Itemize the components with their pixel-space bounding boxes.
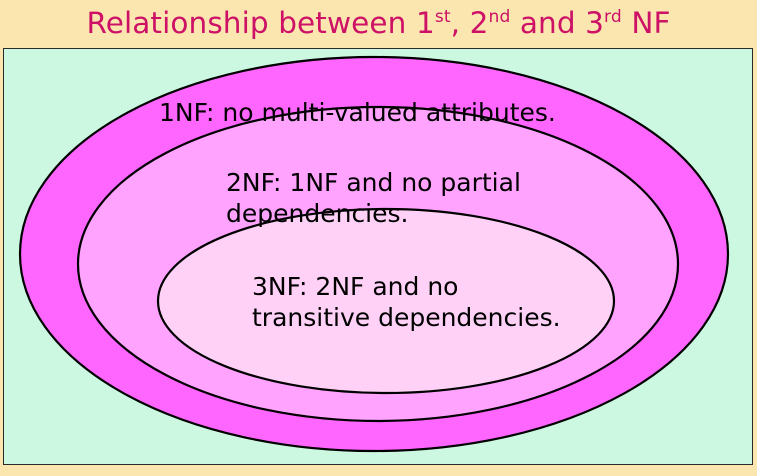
title-ordinal-1-suffix: st xyxy=(435,7,451,27)
title-ordinal-3-suffix: rd xyxy=(604,7,622,27)
title-bar: Relationship between 1st, 2nd and 3rd NF xyxy=(0,0,757,47)
title-trailing: NF xyxy=(622,6,671,40)
page-title: Relationship between 1st, 2nd and 3rd NF xyxy=(86,9,670,39)
diagram-panel: 1NF: no multi-valued attributes. 2NF: 1N… xyxy=(3,48,753,465)
title-ordinal-3-number: 3 xyxy=(585,6,604,40)
slide: Relationship between 1st, 2nd and 3rd NF… xyxy=(0,0,757,476)
title-ordinal-2-number: 2 xyxy=(470,6,489,40)
title-separator-1: , xyxy=(451,6,470,40)
title-ordinal-2-suffix: nd xyxy=(489,7,511,27)
ellipse-3nf-inner xyxy=(158,209,614,393)
title-ordinal-1-number: 1 xyxy=(416,6,435,40)
nested-venn-diagram xyxy=(4,49,753,465)
title-prefix: Relationship between xyxy=(86,6,416,40)
title-separator-2: and xyxy=(510,6,585,40)
